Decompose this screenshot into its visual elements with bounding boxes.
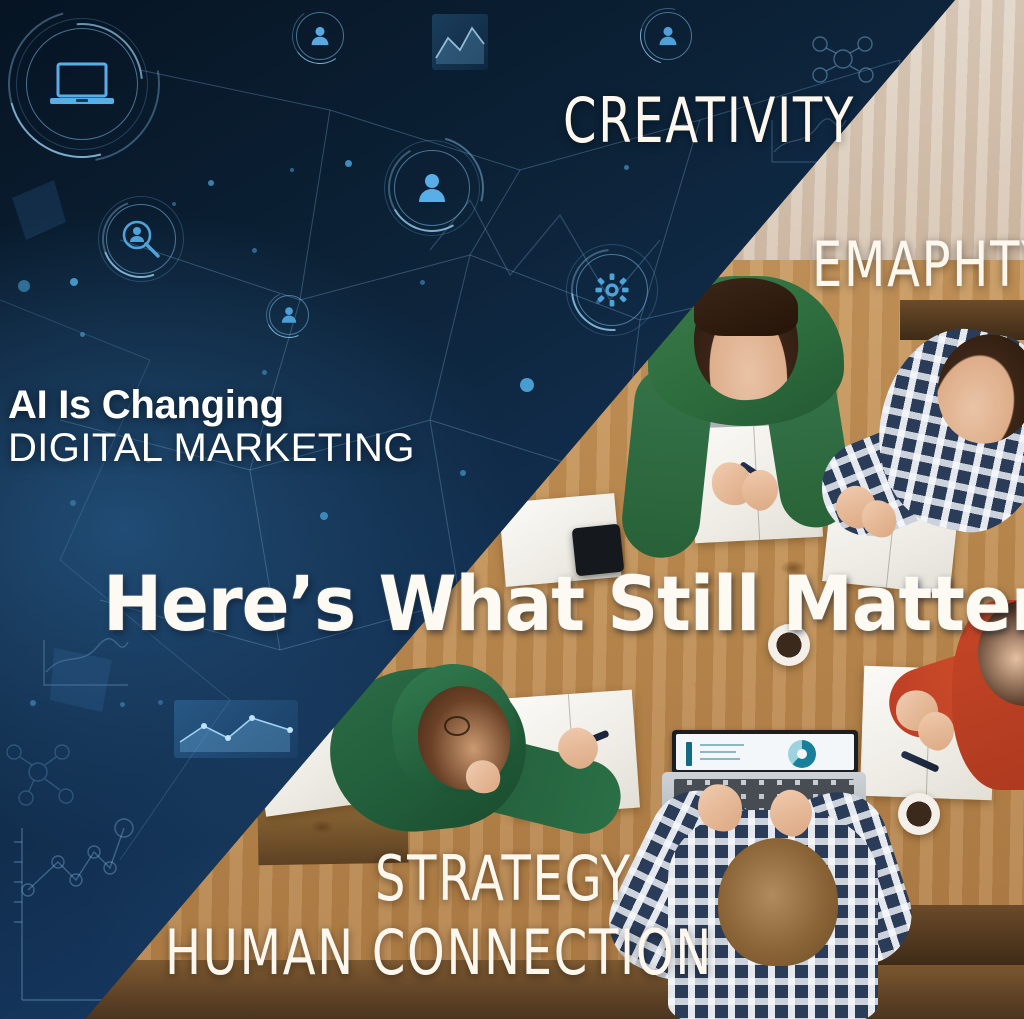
label-creativity: CREATIVITY [563, 84, 855, 157]
network-node-icon [7, 745, 73, 805]
chart-icon [432, 14, 488, 70]
user-badge [266, 292, 312, 338]
label-human-connection: HUMAN CONNECTION [165, 916, 713, 989]
kicker-line-2: DIGITAL MARKETING [8, 427, 415, 470]
gear-badge [566, 244, 658, 336]
headline-text: Here’s What Still Matters [103, 559, 1024, 648]
laptop-icon [50, 60, 114, 108]
chart-card [174, 700, 298, 758]
user-icon [412, 168, 452, 208]
wood-knot [310, 820, 334, 834]
kicker-line-1: AI Is Changing [8, 384, 415, 427]
kicker-text: AI Is Changing DIGITAL MARKETING [8, 384, 415, 470]
label-emaphty: EMAPHTY [812, 228, 1024, 301]
label-strategy: STRATEGY [375, 842, 632, 915]
growth-chart-icon [174, 700, 298, 758]
user-badge [292, 8, 348, 64]
gear-icon [594, 272, 630, 308]
user-badge [382, 138, 482, 238]
user-icon [655, 23, 681, 49]
coffee-mug [898, 793, 940, 835]
user-icon [307, 23, 333, 49]
person-search-icon [120, 218, 162, 260]
laptop-badge [8, 10, 156, 158]
network-node-icon [813, 37, 873, 82]
user-icon [278, 304, 300, 326]
poster-canvas: AI Is Changing DIGITAL MARKETING CREATIV… [0, 0, 1024, 1019]
person-search-badge [98, 196, 184, 282]
laptop-screen-content [676, 734, 854, 770]
chart-card [432, 14, 488, 70]
user-badge [640, 8, 696, 64]
